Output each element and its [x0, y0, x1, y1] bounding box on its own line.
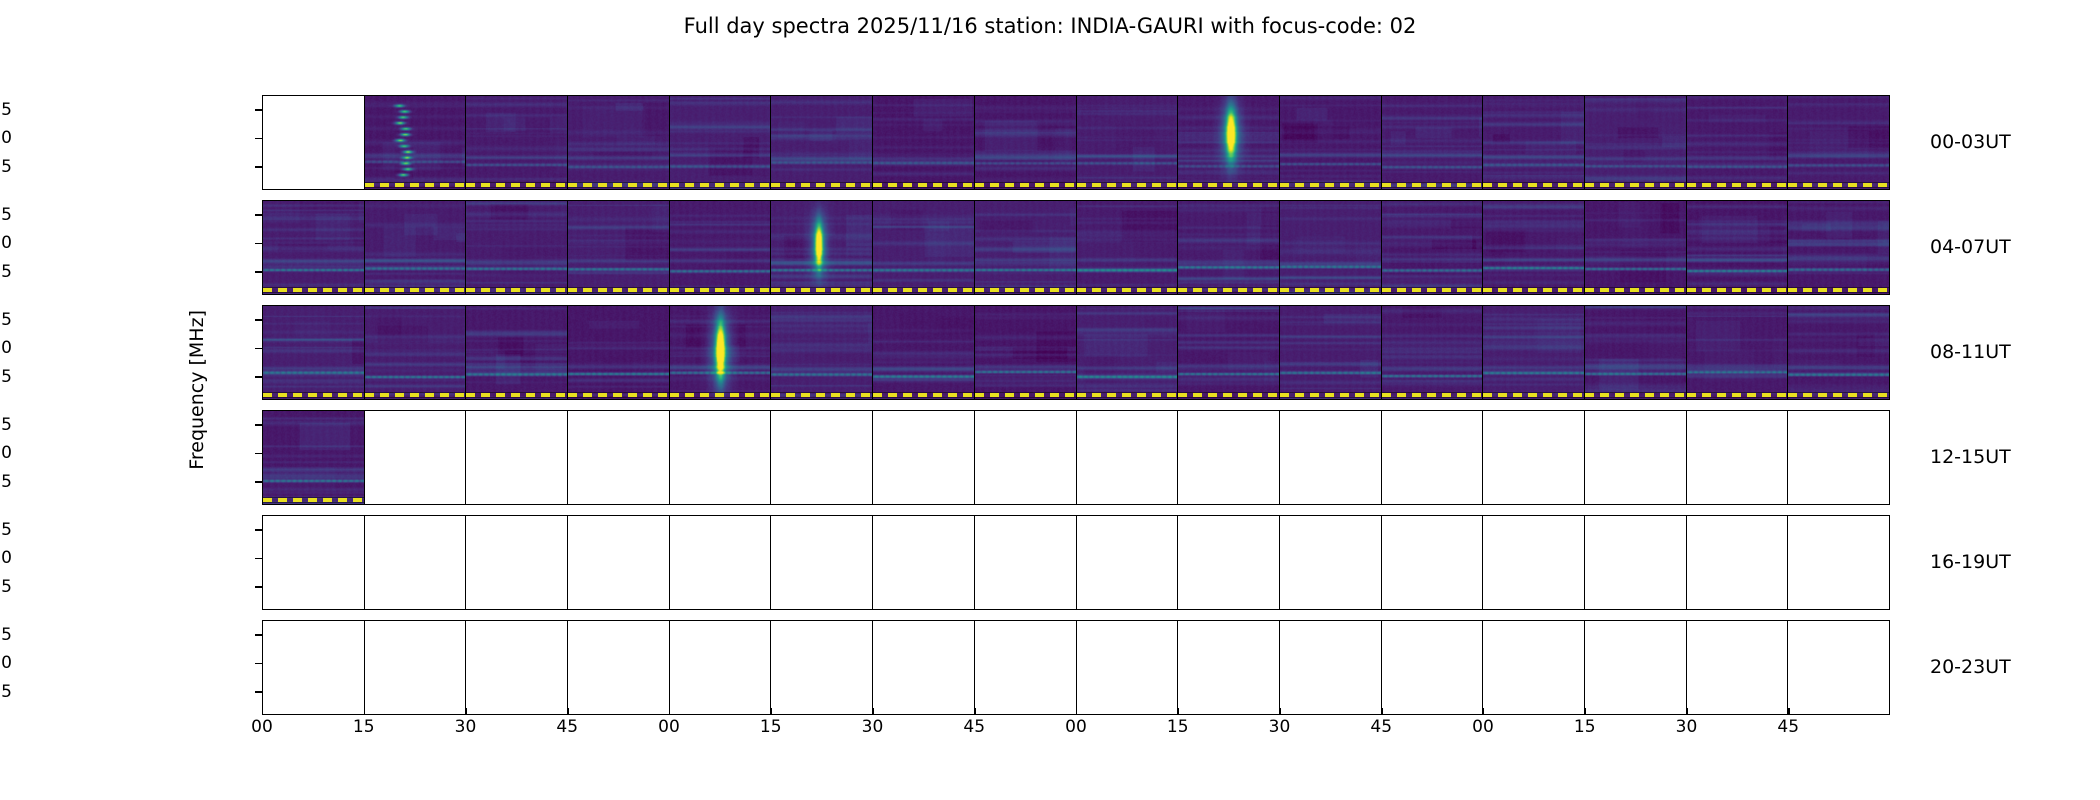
spectrogram-panel: [1382, 201, 1484, 294]
spectrogram-panel-empty: [975, 621, 1077, 714]
x-tick-label: 15: [1574, 717, 1596, 737]
x-tick-mark: [669, 708, 670, 715]
spectrogram-row: [262, 515, 1890, 610]
data-availability-dashline: [771, 288, 872, 292]
spectrogram-panel: [1788, 201, 1889, 294]
y-tick-label: 50: [0, 443, 12, 463]
spectrogram-row: [262, 410, 1890, 505]
row-label: 12-15UT: [1930, 446, 2011, 468]
spectrogram-panel: [873, 201, 975, 294]
data-availability-dashline: [975, 393, 1076, 397]
spectrogram-panel: [1483, 201, 1585, 294]
x-tick-label: 30: [455, 717, 477, 737]
data-availability-dashline: [873, 393, 974, 397]
x-tick-mark: [1687, 708, 1688, 715]
y-tick-mark: [255, 529, 262, 530]
x-tick-label: 15: [353, 717, 375, 737]
spectrogram-panel: [1483, 306, 1585, 399]
data-availability-dashline: [670, 183, 771, 187]
spectrogram-panel-empty: [1280, 621, 1382, 714]
y-tick-label: 50: [0, 338, 12, 358]
row-label: 04-07UT: [1930, 236, 2011, 258]
spectrogram-panel: [365, 306, 467, 399]
spectrogram-panel: [873, 306, 975, 399]
spectrogram-panel-empty: [1687, 516, 1789, 609]
spectrogram-panel-empty: [365, 516, 467, 609]
row-label: 08-11UT: [1930, 341, 2011, 363]
spectrogram-panel-empty: [1585, 621, 1687, 714]
data-availability-dashline: [1687, 288, 1788, 292]
y-tick-label: 75: [0, 205, 12, 225]
spectrogram-panel-empty: [771, 516, 873, 609]
spectrogram-panel-empty: [1280, 411, 1382, 504]
row-label: 16-19UT: [1930, 551, 2011, 573]
data-availability-dashline: [1077, 288, 1178, 292]
row-label: 20-23UT: [1930, 656, 2011, 678]
spectrogram-panel-empty: [1178, 621, 1280, 714]
data-availability-dashline: [1687, 393, 1788, 397]
data-availability-dashline: [1280, 288, 1381, 292]
spectrogram-row: [262, 305, 1890, 400]
data-availability-dashline: [1585, 183, 1686, 187]
data-availability-dashline: [1077, 393, 1178, 397]
spectrogram-panel-empty: [1788, 411, 1889, 504]
spectrogram-panel: [975, 201, 1077, 294]
spectrogram-panel-empty: [670, 516, 772, 609]
x-tick-label: 00: [1065, 717, 1087, 737]
spectrogram-panel: [1585, 306, 1687, 399]
x-tick-mark: [873, 708, 874, 715]
data-availability-dashline: [1788, 288, 1889, 292]
spectrogram-panel-empty: [568, 411, 670, 504]
spectrogram-panel-empty: [263, 96, 365, 189]
data-availability-dashline: [263, 498, 364, 502]
spectrogram-panel-empty: [1788, 516, 1889, 609]
x-tick-mark: [567, 708, 568, 715]
spectrogram-panel-empty: [466, 411, 568, 504]
x-tick-label: 30: [1676, 717, 1698, 737]
x-tick-label: 00: [658, 717, 680, 737]
data-availability-dashline: [365, 183, 466, 187]
data-availability-dashline: [1382, 288, 1483, 292]
spectrogram-panel: [1280, 96, 1382, 189]
spectrogram-panel: [263, 306, 365, 399]
spectrogram-panel-empty: [365, 621, 467, 714]
spectrogram-panel: [1585, 201, 1687, 294]
spectrogram-panel: [568, 96, 670, 189]
spectrogram-panel: [466, 306, 568, 399]
data-availability-dashline: [1280, 183, 1381, 187]
y-tick-mark: [255, 109, 262, 110]
spectrogram-panel: [771, 201, 873, 294]
y-tick-mark: [255, 138, 262, 139]
x-tick-label: 45: [1777, 717, 1799, 737]
x-tick-label: 00: [1472, 717, 1494, 737]
figure-canvas: Full day spectra 2025/11/16 station: IND…: [0, 0, 2100, 800]
spectrogram-panel: [1280, 306, 1382, 399]
spectrogram-panel: [568, 201, 670, 294]
x-tick-mark: [1483, 708, 1484, 715]
data-availability-dashline: [1687, 183, 1788, 187]
y-tick-mark: [255, 271, 262, 272]
y-tick-mark: [255, 691, 262, 692]
data-availability-dashline: [1178, 288, 1279, 292]
y-tick-mark: [255, 634, 262, 635]
spectrogram-panel: [1585, 96, 1687, 189]
data-availability-dashline: [365, 393, 466, 397]
spectrogram-panel-empty: [873, 516, 975, 609]
spectrogram-panel-empty: [1280, 516, 1382, 609]
data-availability-dashline: [466, 393, 567, 397]
spectrogram-panel: [1788, 96, 1889, 189]
spectrogram-panel: [365, 96, 467, 189]
spectrogram-panel-empty: [263, 621, 365, 714]
spectrogram-panel-empty: [771, 621, 873, 714]
data-availability-dashline: [1585, 393, 1686, 397]
y-axis-label: Frequency [MHz]: [186, 310, 208, 470]
data-availability-dashline: [975, 183, 1076, 187]
data-availability-dashline: [466, 288, 567, 292]
x-tick-mark: [771, 708, 772, 715]
y-tick-label: 25: [0, 577, 12, 597]
spectrogram-panel: [975, 96, 1077, 189]
spectrogram-panel: [1077, 96, 1179, 189]
data-availability-dashline: [1585, 288, 1686, 292]
data-availability-dashline: [670, 288, 771, 292]
y-tick-label: 75: [0, 520, 12, 540]
x-tick-label: 00: [251, 717, 273, 737]
y-tick-mark: [255, 166, 262, 167]
data-availability-dashline: [1483, 183, 1584, 187]
data-availability-dashline: [873, 288, 974, 292]
spectrogram-panel: [365, 201, 467, 294]
y-tick-label: 25: [0, 262, 12, 282]
y-tick-label: 50: [0, 548, 12, 568]
spectrogram-panel-empty: [1483, 621, 1585, 714]
data-availability-dashline: [1788, 393, 1889, 397]
data-availability-dashline: [365, 288, 466, 292]
data-availability-dashline: [1483, 393, 1584, 397]
y-tick-label: 75: [0, 415, 12, 435]
y-tick-label: 50: [0, 653, 12, 673]
spectrogram-panel-empty: [1382, 411, 1484, 504]
spectrogram-panel: [1178, 306, 1280, 399]
data-availability-dashline: [1280, 393, 1381, 397]
y-tick-mark: [255, 376, 262, 377]
x-tick-mark: [974, 708, 975, 715]
x-tick-label: 30: [1269, 717, 1291, 737]
spectrogram-panel: [670, 306, 772, 399]
x-tick-mark: [1381, 708, 1382, 715]
page-title: Full day spectra 2025/11/16 station: IND…: [0, 14, 2100, 38]
spectrogram-panel: [1687, 306, 1789, 399]
y-tick-label: 25: [0, 367, 12, 387]
spectrogram-panel-empty: [670, 411, 772, 504]
spectrogram-panel-empty: [1687, 411, 1789, 504]
spectrogram-panel-empty: [975, 516, 1077, 609]
spectrogram-row: [262, 95, 1890, 190]
spectrogram-panel-empty: [466, 621, 568, 714]
y-tick-label: 75: [0, 100, 12, 120]
spectrogram-panel-empty: [263, 516, 365, 609]
x-tick-mark: [364, 708, 365, 715]
y-tick-label: 25: [0, 157, 12, 177]
data-availability-dashline: [1788, 183, 1889, 187]
spectrogram-panel: [1178, 201, 1280, 294]
y-tick-label: 75: [0, 310, 12, 330]
spectrogram-panel-empty: [873, 621, 975, 714]
spectrogram-row: [262, 200, 1890, 295]
spectrogram-panel: [1687, 201, 1789, 294]
data-availability-dashline: [263, 288, 364, 292]
spectrogram-panel-empty: [1077, 411, 1179, 504]
y-tick-label: 75: [0, 625, 12, 645]
x-tick-label: 15: [760, 717, 782, 737]
x-tick-label: 30: [862, 717, 884, 737]
y-tick-label: 50: [0, 128, 12, 148]
data-availability-dashline: [1077, 183, 1178, 187]
y-tick-mark: [255, 424, 262, 425]
spectrogram-panel: [670, 96, 772, 189]
spectrogram-panel-empty: [1382, 516, 1484, 609]
spectrogram-panel-empty: [1077, 516, 1179, 609]
spectrogram-panel: [771, 96, 873, 189]
spectrogram-panel: [1178, 96, 1280, 189]
y-tick-mark: [255, 319, 262, 320]
spectrogram-panel-empty: [1077, 621, 1179, 714]
spectrogram-panel-empty: [1483, 516, 1585, 609]
spectrogram-panel: [1788, 306, 1889, 399]
spectrogram-panel-empty: [568, 516, 670, 609]
x-tick-mark: [466, 708, 467, 715]
spectrogram-panel-empty: [1178, 516, 1280, 609]
x-tick-mark: [1076, 708, 1077, 715]
data-availability-dashline: [771, 183, 872, 187]
spectrogram-panel-empty: [771, 411, 873, 504]
spectrogram-panel: [1382, 306, 1484, 399]
spectrogram-panel-empty: [1382, 621, 1484, 714]
data-availability-dashline: [1178, 183, 1279, 187]
y-tick-mark: [255, 348, 262, 349]
x-tick-mark: [1788, 708, 1789, 715]
data-availability-dashline: [1483, 288, 1584, 292]
x-tick-mark: [1280, 708, 1281, 715]
x-tick-label: 45: [1370, 717, 1392, 737]
data-availability-dashline: [975, 288, 1076, 292]
y-tick-mark: [255, 214, 262, 215]
spectrogram-panel: [975, 306, 1077, 399]
x-tick-label: 45: [963, 717, 985, 737]
data-availability-dashline: [568, 288, 669, 292]
data-availability-dashline: [771, 393, 872, 397]
data-availability-dashline: [263, 393, 364, 397]
spectrogram-panel: [1382, 96, 1484, 189]
spectrogram-panel-empty: [670, 621, 772, 714]
x-tick-mark: [1178, 708, 1179, 715]
data-availability-dashline: [568, 393, 669, 397]
spectrogram-panel-empty: [1178, 411, 1280, 504]
spectrogram-panel: [771, 306, 873, 399]
spectrogram-panel-empty: [975, 411, 1077, 504]
x-tick-mark: [1585, 708, 1586, 715]
spectrogram-panel-empty: [1788, 621, 1889, 714]
y-tick-mark: [255, 558, 262, 559]
data-availability-dashline: [1382, 183, 1483, 187]
data-availability-dashline: [1382, 393, 1483, 397]
y-tick-mark: [255, 586, 262, 587]
spectrogram-panel: [568, 306, 670, 399]
spectrogram-panel-empty: [568, 621, 670, 714]
spectrogram-panel-empty: [1687, 621, 1789, 714]
x-tick-label: 45: [556, 717, 578, 737]
spectrogram-row: [262, 620, 1890, 715]
spectrogram-panel: [873, 96, 975, 189]
spectrogram-panel: [263, 201, 365, 294]
y-tick-label: 50: [0, 233, 12, 253]
spectrogram-panel-empty: [1483, 411, 1585, 504]
y-tick-label: 25: [0, 472, 12, 492]
spectrogram-panel: [466, 201, 568, 294]
x-tick-mark: [262, 708, 263, 715]
y-tick-mark: [255, 243, 262, 244]
y-tick-mark: [255, 481, 262, 482]
y-tick-mark: [255, 453, 262, 454]
y-tick-label: 25: [0, 682, 12, 702]
spectrogram-panel-empty: [466, 516, 568, 609]
spectrogram-panel-empty: [1585, 516, 1687, 609]
spectrogram-panel: [1483, 96, 1585, 189]
spectrogram-panel: [466, 96, 568, 189]
spectrogram-panel: [1280, 201, 1382, 294]
data-availability-dashline: [1178, 393, 1279, 397]
spectrogram-panel-empty: [1585, 411, 1687, 504]
x-tick-label: 15: [1167, 717, 1189, 737]
data-availability-dashline: [466, 183, 567, 187]
data-availability-dashline: [873, 183, 974, 187]
spectrogram-panel: [263, 411, 365, 504]
spectrogram-panel-empty: [873, 411, 975, 504]
data-availability-dashline: [568, 183, 669, 187]
row-label: 00-03UT: [1930, 131, 2011, 153]
y-tick-mark: [255, 663, 262, 664]
data-availability-dashline: [670, 393, 771, 397]
spectrogram-panel: [1687, 96, 1789, 189]
spectrogram-panel: [1077, 201, 1179, 294]
spectrogram-panel-empty: [365, 411, 467, 504]
spectrogram-panel: [1077, 306, 1179, 399]
spectrogram-panel: [670, 201, 772, 294]
